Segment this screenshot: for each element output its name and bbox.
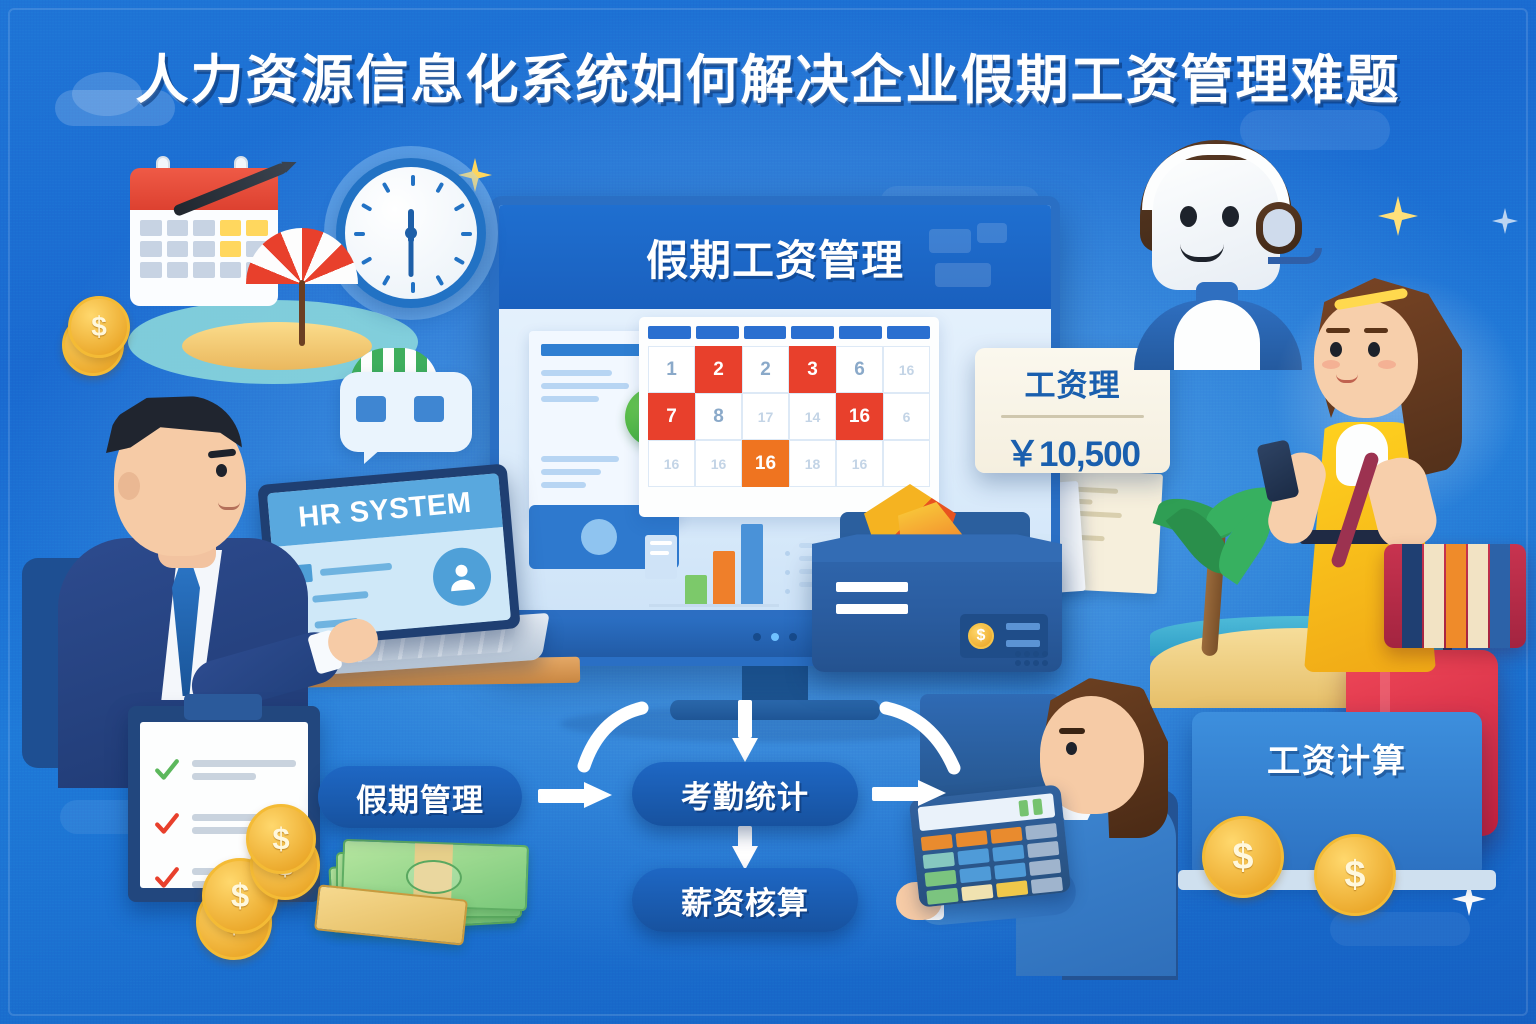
chart-bar bbox=[685, 575, 707, 604]
calculator-key[interactable] bbox=[959, 866, 991, 883]
legend-bullets bbox=[785, 537, 790, 608]
calendar-day-cell[interactable] bbox=[883, 440, 930, 487]
screen-header-title: 假期工资管理 bbox=[646, 227, 904, 288]
calculator-key[interactable] bbox=[956, 830, 988, 847]
calendar-day-cell[interactable]: 2 bbox=[742, 346, 789, 393]
flow-arrow-right-2 bbox=[872, 780, 946, 806]
headset-band bbox=[1142, 144, 1290, 210]
calculator-key[interactable] bbox=[1031, 877, 1063, 894]
calculator-key[interactable] bbox=[1029, 859, 1061, 876]
checklist-row bbox=[152, 754, 296, 786]
eye bbox=[1330, 342, 1342, 357]
calendar-day-cell[interactable]: 14 bbox=[789, 393, 836, 440]
eye bbox=[1066, 742, 1077, 755]
flow-step-leave-label: 假期管理 bbox=[356, 775, 484, 820]
calendar-day-cell[interactable]: 18 bbox=[789, 440, 836, 487]
traveling-employee-figure bbox=[1252, 272, 1532, 672]
page-title: 人力资源信息化系统如何解决企业假期工资管理难题 bbox=[0, 38, 1536, 114]
calendar-day-cell[interactable]: 3 bbox=[789, 346, 836, 393]
calculator-key[interactable] bbox=[1025, 823, 1057, 840]
card-dots bbox=[1015, 651, 1048, 666]
calculator-keys bbox=[921, 823, 1063, 905]
chart-bar bbox=[741, 524, 763, 604]
calendar-day-cell[interactable]: 16 bbox=[836, 393, 883, 440]
calendar-day-cell[interactable]: 1 bbox=[648, 346, 695, 393]
header-decoration bbox=[977, 223, 1007, 243]
eye bbox=[1368, 342, 1380, 357]
cash-stack bbox=[330, 848, 520, 926]
flow-step-attendance-label: 考勤统计 bbox=[681, 772, 809, 817]
salary-card-divider bbox=[1001, 415, 1144, 418]
calendar-day-cell[interactable]: 6 bbox=[836, 346, 883, 393]
flow-step-leave[interactable]: 假期管理 bbox=[318, 766, 522, 828]
eyebrow bbox=[1059, 728, 1085, 734]
calendar-day-cell[interactable]: 16 bbox=[742, 440, 789, 487]
bar-chart bbox=[649, 527, 779, 607]
calendar-day-cell[interactable]: 16 bbox=[648, 440, 695, 487]
chart-bar bbox=[713, 551, 735, 604]
coin-icon: $ bbox=[1314, 834, 1396, 916]
calendar-day-cell[interactable]: 16 bbox=[836, 440, 883, 487]
flow-arrow-right-1 bbox=[538, 782, 612, 808]
header-decoration bbox=[935, 263, 991, 287]
calculator-key[interactable] bbox=[992, 845, 1024, 862]
salary-card-amount: ￥10,500 bbox=[985, 426, 1160, 477]
calendar-day-cell[interactable]: 16 bbox=[695, 440, 742, 487]
calendar-day-cell[interactable]: 16 bbox=[883, 346, 930, 393]
flow-curve-right bbox=[876, 700, 976, 790]
flow-step-payroll-label: 薪资核算 bbox=[681, 878, 809, 923]
illustration-canvas: 人力资源信息化系统如何解决企业假期工资管理难题 bbox=[0, 0, 1536, 1024]
beach-umbrella-icon bbox=[246, 228, 358, 346]
calculator-key[interactable] bbox=[994, 862, 1026, 879]
flow-arrow-down-center bbox=[732, 700, 758, 762]
blush bbox=[1322, 360, 1340, 369]
check-icon bbox=[152, 865, 182, 891]
page-title-text: 人力资源信息化系统如何解决企业假期工资管理难题 bbox=[136, 38, 1401, 114]
headset-earcup bbox=[1256, 202, 1302, 254]
calculator-key[interactable] bbox=[990, 827, 1022, 844]
calculator-key[interactable] bbox=[957, 848, 989, 865]
calculator-key[interactable] bbox=[961, 884, 993, 901]
calendar-panel: 12236167817141661616161816 bbox=[639, 317, 939, 517]
user-avatar-icon bbox=[581, 519, 617, 555]
check-icon bbox=[152, 757, 182, 783]
calendar-day-cell[interactable]: 7 bbox=[648, 393, 695, 440]
calendar-grid: 12236167817141661616161816 bbox=[648, 346, 930, 487]
calendar-weekday-header bbox=[648, 326, 930, 339]
screen-header: 假期工资管理 bbox=[499, 205, 1051, 309]
calculator-key[interactable] bbox=[1027, 841, 1059, 858]
calculator-key[interactable] bbox=[996, 880, 1028, 897]
eyebrow bbox=[1364, 328, 1388, 333]
travel-bag-icon bbox=[1384, 544, 1526, 648]
checklist-text-lines bbox=[192, 754, 296, 786]
dollar-coin-icon: $ bbox=[968, 623, 994, 649]
calendar-day-cell[interactable]: 8 bbox=[695, 393, 742, 440]
headset-microphone bbox=[1268, 248, 1322, 264]
eyebrow bbox=[1326, 328, 1350, 333]
clock-icon bbox=[336, 158, 486, 308]
calendar-day-cell[interactable]: 17 bbox=[742, 393, 789, 440]
coin-icon: $ bbox=[68, 296, 130, 358]
flow-step-attendance[interactable]: 考勤统计 bbox=[632, 762, 858, 826]
calculator-key[interactable] bbox=[924, 870, 956, 887]
coin-icon: $ bbox=[246, 804, 316, 874]
flow-arrow-down-1 bbox=[732, 826, 758, 870]
calculator-key[interactable] bbox=[926, 888, 958, 905]
calculator-key[interactable] bbox=[921, 834, 953, 851]
check-icon bbox=[152, 811, 182, 837]
eye bbox=[216, 464, 227, 477]
header-decoration bbox=[929, 229, 971, 253]
payroll-calculation-label: 工资计算 bbox=[1267, 734, 1407, 782]
calendar-day-cell[interactable]: 2 bbox=[695, 346, 742, 393]
calculator-key[interactable] bbox=[923, 852, 955, 869]
blush bbox=[1378, 360, 1396, 369]
flow-step-payroll[interactable]: 薪资核算 bbox=[632, 868, 858, 932]
ear bbox=[118, 472, 140, 500]
calendar-day-cell[interactable]: 6 bbox=[883, 393, 930, 440]
wallet-icon: $ bbox=[812, 512, 1062, 672]
vacation-tag-decoration bbox=[340, 372, 472, 452]
coin-icon: $ bbox=[1202, 816, 1284, 898]
chart-tooltip bbox=[645, 535, 677, 579]
head bbox=[1314, 300, 1418, 418]
